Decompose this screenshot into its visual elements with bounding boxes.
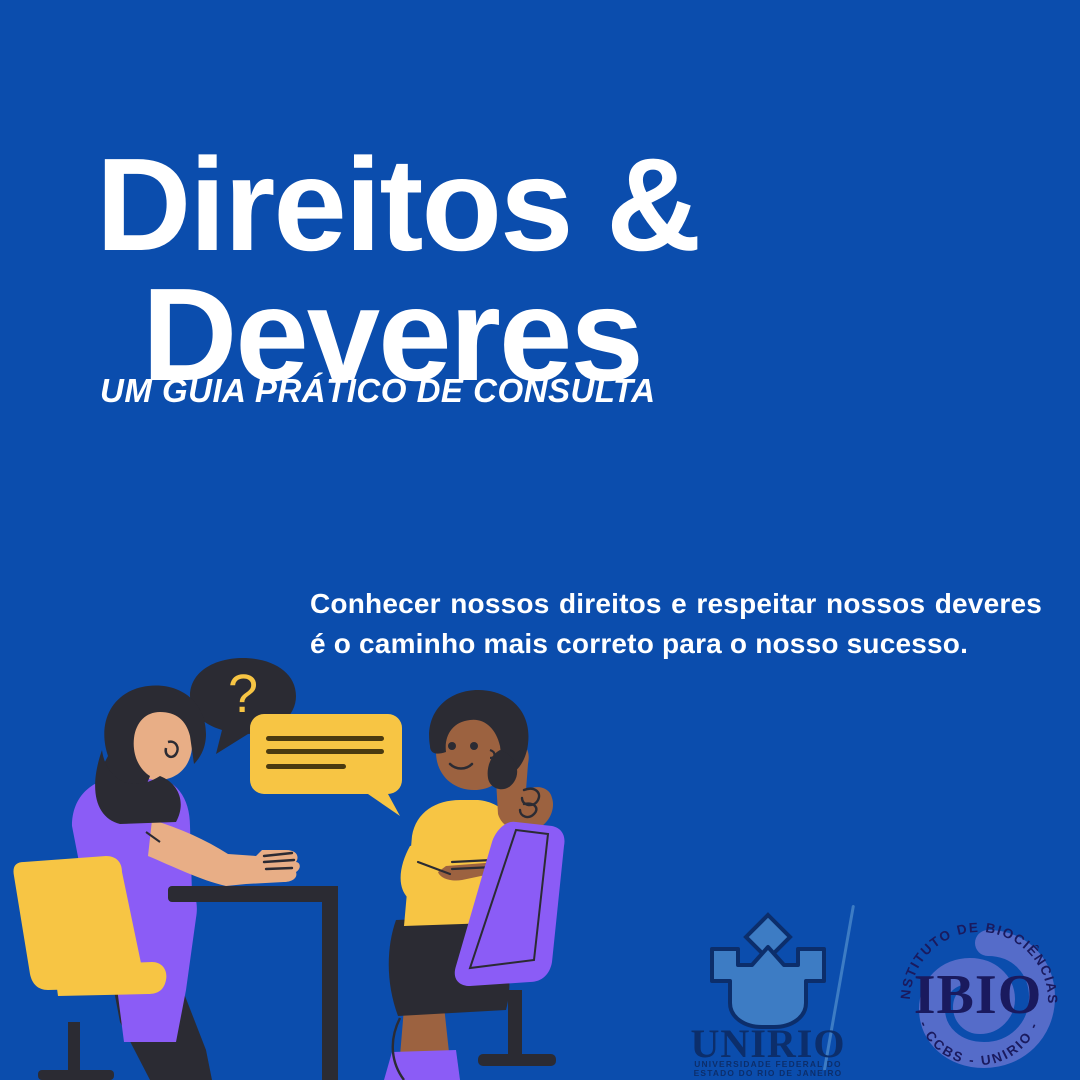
right-person-eye-right [470, 742, 478, 750]
page-title: Direitos &Deveres [96, 140, 976, 399]
title-line-1: Direitos & [96, 131, 699, 278]
bubble-line-1 [266, 736, 384, 741]
desk-top [168, 886, 338, 902]
desk-leg [322, 886, 338, 1080]
text-speech-bubble [250, 714, 402, 816]
two-women-conversation-illustration: ? [0, 650, 660, 1080]
unirio-logo: UNIRIO UNIVERSIDADE FEDERAL DO ESTADO DO… [682, 907, 854, 1077]
chair-right-post [508, 990, 522, 1060]
body-paragraph: Conhecer nossos direitos e respeitar nos… [310, 584, 1042, 664]
unirio-emblem [712, 915, 824, 1027]
unirio-tagline-line-2: ESTADO DO RIO DE JANEIRO [694, 1068, 843, 1077]
question-mark-icon: ? [228, 664, 258, 724]
right-person-eye-left [448, 742, 456, 750]
page-subtitle: UM GUIA PRÁTICO DE CONSULTA [100, 372, 656, 410]
chair-left-base [38, 1070, 114, 1080]
ibio-logo: INSTITUTO DE BIOCIÊNCIAS - CCBS - UNIRIO… [888, 907, 1070, 1080]
chair-left-seat [54, 962, 166, 996]
unirio-u-icon [712, 947, 824, 1027]
bubble-line-3 [266, 764, 346, 769]
poster-canvas: ? [0, 0, 1080, 1080]
bubble-line-2 [266, 749, 384, 754]
logo-area: UNIRIO UNIVERSIDADE FEDERAL DO ESTADO DO… [660, 895, 1080, 1080]
chair-right-base [478, 1054, 556, 1066]
ibio-wordmark: IBIO [914, 964, 1043, 1026]
chair-left-post [68, 1022, 80, 1078]
